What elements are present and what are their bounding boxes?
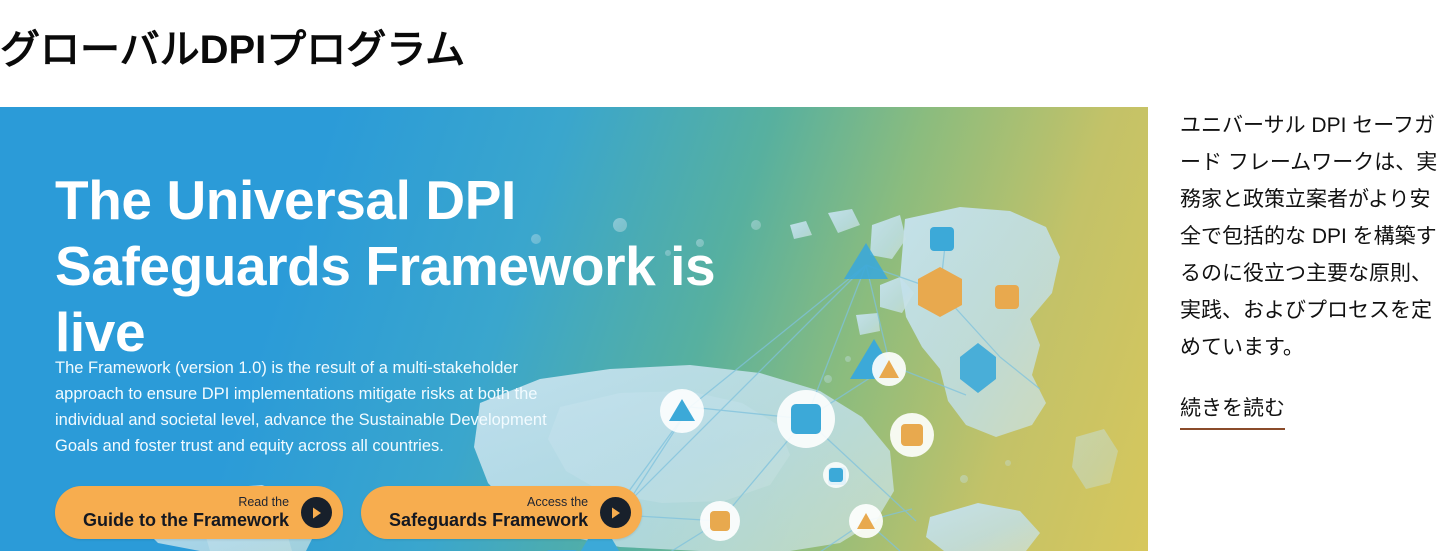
page-title: グローバルDPIプログラム	[0, 23, 465, 77]
hero-body-text: The Framework (version 1.0) is the resul…	[55, 355, 563, 459]
safeguards-framework-button[interactable]: Access the Safeguards Framework	[361, 486, 642, 539]
play-arrow-icon	[600, 497, 631, 528]
safeguards-cta-label: Safeguards Framework	[389, 511, 588, 529]
side-text-column: ユニバーサル DPI セーフガード フレームワークは、実務家と政策立案者がより安…	[1180, 107, 1438, 430]
hero-banner: The Universal DPI Safeguards Framework i…	[0, 107, 1148, 551]
content-row: The Universal DPI Safeguards Framework i…	[0, 107, 1444, 551]
hero-cta-group: Read the Guide to the Framework Access t…	[55, 486, 642, 539]
side-paragraph: ユニバーサル DPI セーフガード フレームワークは、実務家と政策立案者がより安…	[1180, 107, 1438, 366]
play-arrow-icon	[301, 497, 332, 528]
hero-content: The Universal DPI Safeguards Framework i…	[0, 107, 1148, 551]
guide-cta-label: Guide to the Framework	[83, 511, 289, 529]
guide-to-the-framework-button[interactable]: Read the Guide to the Framework	[55, 486, 343, 539]
hero-headline: The Universal DPI Safeguards Framework i…	[55, 167, 785, 365]
read-more-wrapper: 続きを読む	[1180, 392, 1438, 430]
read-more-link[interactable]: 続きを読む	[1180, 392, 1285, 430]
guide-cta-kicker: Read the	[238, 496, 289, 509]
safeguards-cta-labels: Access the Safeguards Framework	[389, 496, 588, 530]
safeguards-cta-kicker: Access the	[527, 496, 588, 509]
guide-cta-labels: Read the Guide to the Framework	[83, 496, 289, 530]
